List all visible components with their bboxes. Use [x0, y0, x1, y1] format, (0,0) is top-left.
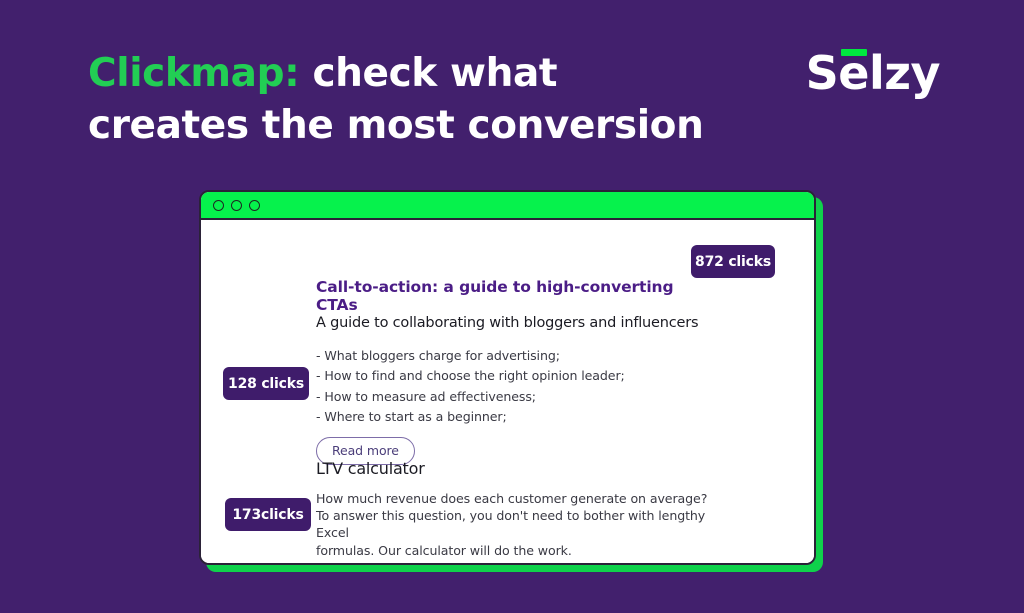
- post-title[interactable]: LTV calculator: [316, 459, 716, 478]
- logo-accented-letter-wrap: e: [838, 50, 869, 96]
- post-title[interactable]: Call-to-action: a guide to high-converti…: [316, 278, 716, 315]
- headline-accent: Clickmap:: [88, 51, 299, 96]
- poster-canvas: Clickmap: check what creates the most co…: [0, 0, 1024, 613]
- post-bullet-list: - What bloggers charge for advertising; …: [316, 346, 716, 428]
- click-badge-128[interactable]: 128 clicks: [223, 367, 309, 400]
- list-item: - What bloggers charge for advertising;: [316, 346, 716, 366]
- window-minimize-icon[interactable]: [231, 200, 242, 211]
- post-subtitle: A guide to collaborating with bloggers a…: [316, 315, 716, 332]
- logo-text-before: S: [806, 46, 839, 100]
- post-call-to-action: Call-to-action: a guide to high-converti…: [316, 278, 716, 465]
- click-badge-173[interactable]: 173clicks: [225, 498, 311, 531]
- window-close-icon[interactable]: [213, 200, 224, 211]
- post-body-line-2: To answer this question, you don't need …: [316, 507, 716, 541]
- list-item: - How to find and choose the right opini…: [316, 366, 716, 386]
- logo-text-after: lzy: [869, 46, 940, 100]
- list-item: - Where to start as a beginner;: [316, 407, 716, 427]
- page-title: Clickmap: check what creates the most co…: [88, 48, 728, 152]
- selzy-logo: Selzy: [806, 50, 940, 96]
- click-badge-872[interactable]: 872 clicks: [691, 245, 775, 278]
- list-item: - How to measure ad effectiveness;: [316, 387, 716, 407]
- post-body-line-1: How much revenue does each customer gene…: [316, 490, 716, 507]
- window-maximize-icon[interactable]: [249, 200, 260, 211]
- browser-titlebar: [201, 192, 814, 220]
- post-ltv-calculator: LTV calculator How much revenue does eac…: [316, 459, 716, 565]
- logo-macron-bar: [841, 49, 867, 56]
- post-body-line-3: formulas. Our calculator will do the wor…: [316, 542, 716, 559]
